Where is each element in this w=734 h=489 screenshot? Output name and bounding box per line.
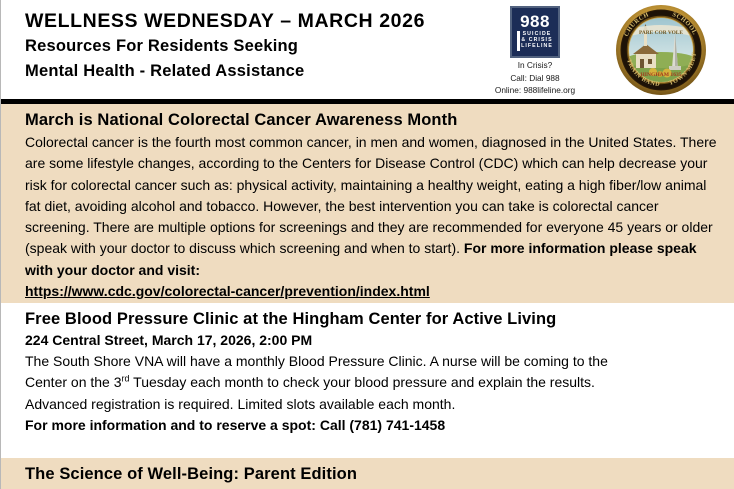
- 988-lifeline-logo: 988 SUICIDE & CRISIS LIFELINE In Crisis?…: [479, 6, 591, 96]
- section-2-body: The South Shore VNA will have a monthly …: [25, 351, 725, 436]
- flyer-page: WELLNESS WEDNESDAY – MARCH 2026 Resource…: [0, 0, 734, 489]
- 988-caption-line-1: In Crisis?: [479, 60, 591, 71]
- 988-logo-number: 988: [512, 8, 558, 31]
- 988-caption-line-2: Call: Dial 988: [479, 73, 591, 84]
- 988-caption-line-3: Online: 988lifeline.org: [479, 85, 591, 96]
- section-3-title: The Science of Well-Being: Parent Editio…: [25, 463, 725, 485]
- section-2-ordinal-suffix: rd: [122, 374, 130, 384]
- section-1-body-line-1: Colorectal cancer is the fourth most com…: [25, 134, 629, 150]
- section-2-body-line-1: The South Shore VNA will have a monthly …: [25, 353, 608, 369]
- section-colorectal-cancer: March is National Colorectal Cancer Awar…: [1, 104, 734, 303]
- section-blood-pressure-clinic: Free Blood Pressure Clinic at the Hingha…: [1, 303, 734, 458]
- section-2-title: Free Blood Pressure Clinic at the Hingha…: [25, 308, 725, 330]
- section-2-body-line-3: Advanced registration is required. Limit…: [25, 396, 455, 412]
- section-1-title: March is National Colorectal Cancer Awar…: [25, 109, 725, 131]
- section-2-body-line-2-post: Tuesday each month to check your blood p…: [130, 374, 595, 390]
- section-1-body-line-7: screening and when to start).: [279, 240, 460, 256]
- 988-logo-bar-icon: [517, 31, 520, 51]
- 988-logo-badge-icon: 988 SUICIDE & CRISIS LIFELINE: [510, 6, 560, 58]
- section-2-bold-footer: For more information and to reserve a sp…: [25, 417, 445, 433]
- cdc-colorectal-link[interactable]: https://www.cdc.gov/colorectal-cancer/pr…: [25, 281, 430, 302]
- section-2-subtitle: 224 Central Street, March 17, 2026, 2:00…: [25, 331, 725, 350]
- section-science-of-well-being: The Science of Well-Being: Parent Editio…: [1, 458, 734, 489]
- seal-center-text: HINGHAM 1635: [640, 72, 681, 78]
- town-seal-icon: CHURCH SCHOOL TRAIN BAND TOWN MEETING PA…: [615, 4, 707, 96]
- page-header: WELLNESS WEDNESDAY – MARCH 2026 Resource…: [1, 0, 734, 100]
- section-1-body: Colorectal cancer is the fourth most com…: [25, 132, 725, 302]
- seal-banner-text: PARE COR VOLE: [639, 30, 683, 36]
- section-2-body-line-2-pre: Center on the 3: [25, 374, 122, 390]
